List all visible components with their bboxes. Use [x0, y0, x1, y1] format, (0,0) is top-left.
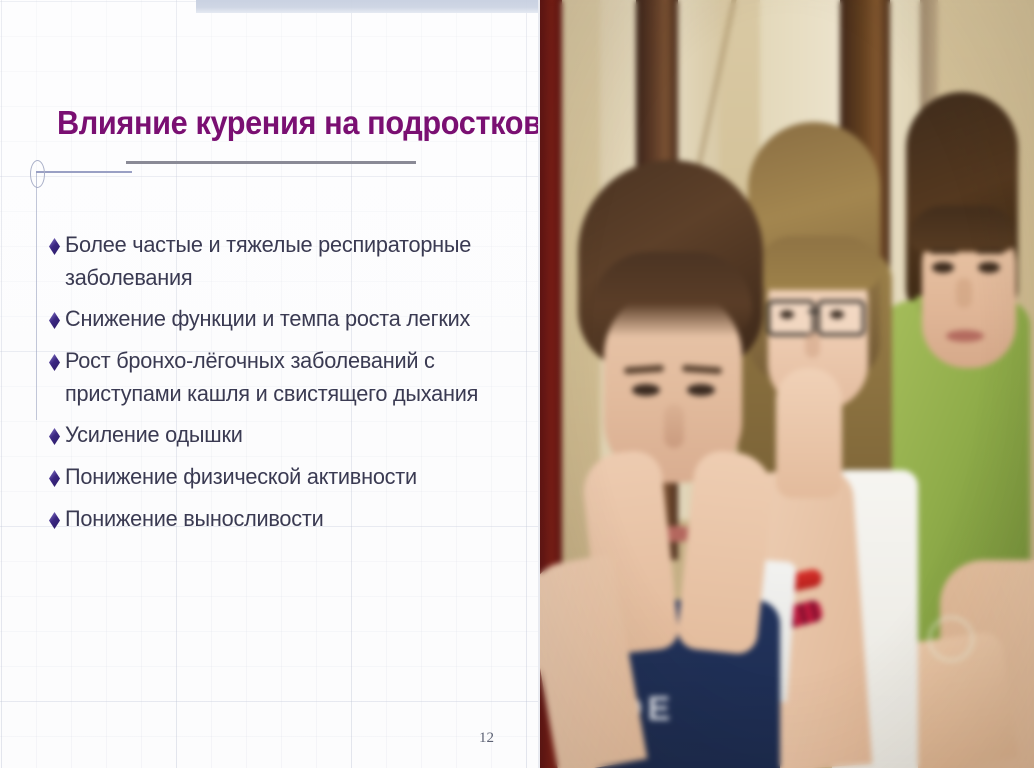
slide-photograph: DE [540, 0, 1034, 768]
photo-boy-right-nose [956, 278, 972, 308]
photo-girl-eye-right [830, 310, 844, 319]
list-item: Понижение выносливости [46, 502, 521, 536]
photo-boy-left-eye-right [687, 384, 715, 396]
diamond-bullet-icon [46, 463, 65, 494]
photo-girl-eye-left [780, 310, 794, 319]
list-item-label: Усиление одышки [65, 418, 505, 451]
photo-boy-right-brow-left [930, 248, 958, 254]
decorative-ellipse-icon [30, 160, 45, 188]
photo-boy-right-brow-right [976, 248, 1004, 254]
photo-girl-bangs [756, 236, 880, 290]
decorative-vertical-line [36, 172, 37, 420]
title-underline-thin [36, 171, 132, 173]
page-number: 12 [479, 730, 494, 747]
diamond-bullet-icon [46, 421, 65, 452]
photo-boy-left-eye-left [632, 384, 660, 396]
diamond-bullet-icon [46, 505, 65, 536]
list-item-label: Снижение функции и темпа роста легких [65, 302, 505, 335]
slide-canvas: Влияние курения на подростков Более част… [0, 0, 1034, 768]
list-item: Усиление одышки [46, 418, 521, 452]
photo-girl-glasses-bridge [808, 310, 820, 313]
photo-boy-right-mouth [946, 330, 984, 342]
list-item-label: Понижение физической активности [65, 460, 505, 493]
photo-boy-right-shirt-logo [928, 616, 974, 662]
diamond-bullet-icon [46, 231, 65, 262]
title-underline-thick [126, 161, 416, 164]
list-item: Снижение функции и темпа роста легких [46, 302, 521, 336]
page-title: Влияние курения на подростков [57, 104, 485, 142]
photo-girl-nose [805, 332, 820, 358]
top-banner-strip [196, 0, 540, 13]
photo-girl-hand [776, 368, 842, 498]
diamond-bullet-icon [46, 305, 65, 336]
photo-boy-right-eye-left [932, 262, 954, 273]
photo-boy-right-fringe [910, 206, 1016, 252]
list-item-label: Более частые и тяжелые респираторные заб… [65, 228, 505, 294]
list-item-label: Понижение выносливости [65, 502, 505, 535]
list-item: Более частые и тяжелые респираторные заб… [46, 228, 521, 294]
photo-boy-left-nose [664, 404, 684, 448]
list-item-label: Рост бронхо-лёгочных заболеваний с прист… [65, 344, 505, 410]
photo-boy-left-fringe [592, 252, 752, 337]
bullet-list: Более частые и тяжелые респираторные заб… [46, 228, 521, 544]
photo-boy-right-eye-right [978, 262, 1000, 273]
list-item: Понижение физической активности [46, 460, 521, 494]
diamond-bullet-icon [46, 347, 65, 378]
list-item: Рост бронхо-лёгочных заболеваний с прист… [46, 344, 521, 410]
